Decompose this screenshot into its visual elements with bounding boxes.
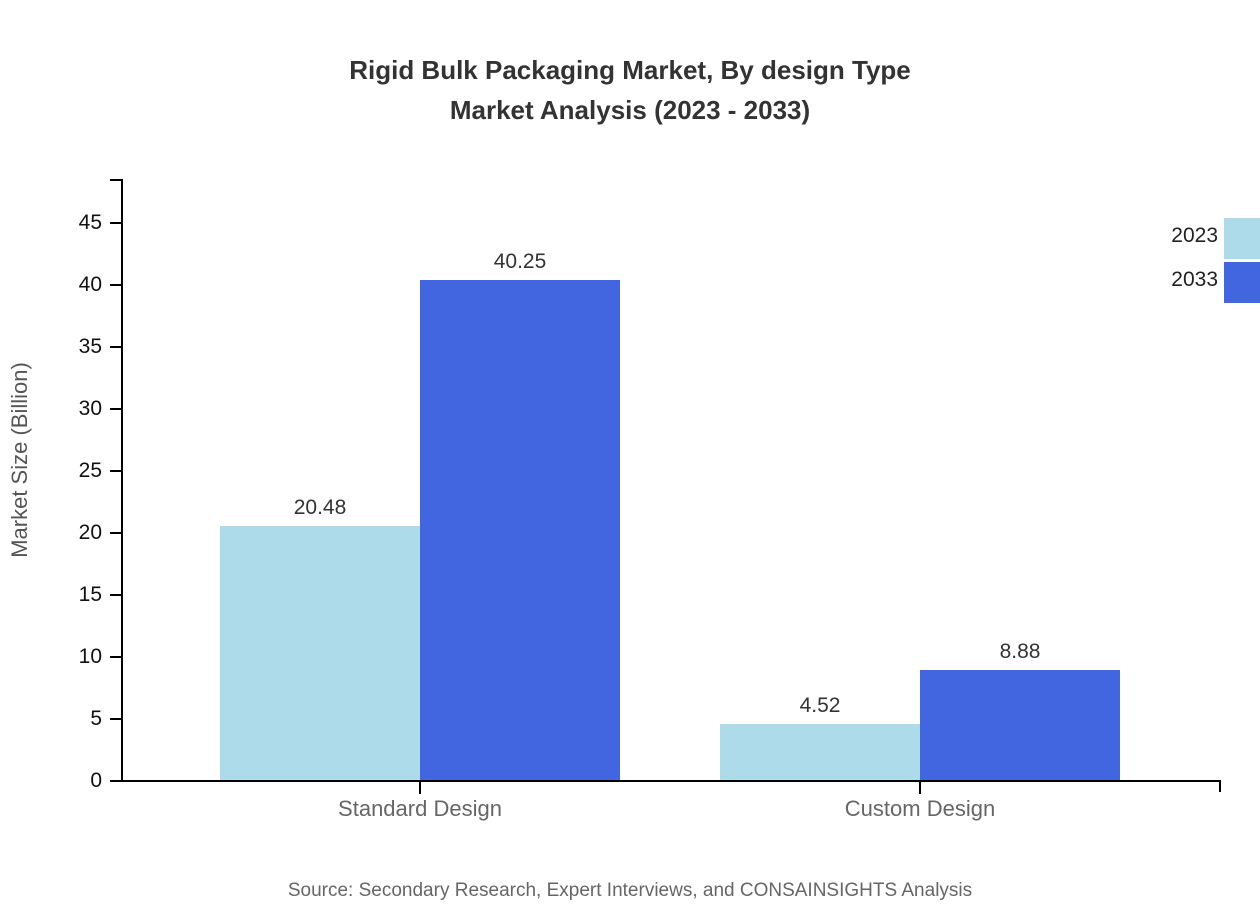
y-tick-mark-5 [110, 718, 121, 720]
y-tick-mark-45 [110, 222, 121, 224]
legend-label-2033: 2033 [1100, 269, 1218, 291]
legend: 2023 2033 [1100, 215, 1260, 310]
bar-standard-design-2023[interactable] [220, 526, 420, 780]
x-tick-mark-standard-design [419, 782, 421, 794]
chart-title: Rigid Bulk Packaging Market, By design T… [0, 50, 1260, 130]
y-tick-mark-40 [110, 284, 121, 286]
y-tick-label-15: 15 [79, 584, 111, 605]
x-tick-label-standard-design: Standard Design [270, 795, 570, 823]
y-tick-label-30: 30 [79, 398, 111, 419]
legend-item-2023[interactable]: 2023 [1100, 216, 1260, 257]
bar-custom-design-2033[interactable] [920, 670, 1120, 780]
legend-swatch-2033 [1224, 262, 1260, 303]
legend-swatch-2023 [1224, 218, 1260, 259]
y-tick-mark-10 [110, 656, 121, 658]
source-note: Source: Secondary Research, Expert Inter… [0, 878, 1260, 904]
bar-value-label-standard-design-2033: 40.25 [420, 251, 620, 272]
y-tick-label-40: 40 [79, 274, 111, 295]
y-axis-top-cap [110, 179, 123, 181]
y-tick-label-35: 35 [79, 336, 111, 357]
bar-value-label-custom-design-2033: 8.88 [920, 641, 1120, 662]
y-tick-mark-20 [110, 532, 121, 534]
chart-title-line-1: Rigid Bulk Packaging Market, By design T… [0, 50, 1260, 90]
x-axis-line [121, 780, 1221, 782]
y-tick-label-25: 25 [79, 460, 111, 481]
y-tick-label-5: 5 [90, 708, 111, 729]
bar-value-label-standard-design-2023: 20.48 [220, 497, 420, 518]
y-axis-line [121, 179, 123, 782]
y-tick-mark-25 [110, 470, 121, 472]
y-axis-title-text: Market Size (Billion) [7, 362, 33, 558]
y-tick-mark-0 [110, 780, 121, 782]
x-tick-mark-custom-design [919, 782, 921, 794]
y-tick-label-0: 0 [90, 770, 111, 791]
y-tick-label-45: 45 [79, 212, 111, 233]
y-tick-label-20: 20 [79, 522, 111, 543]
y-axis-title: Market Size (Billion) [0, 0, 40, 920]
bar-value-label-custom-design-2023: 4.52 [720, 695, 920, 716]
chart-figure: Rigid Bulk Packaging Market, By design T… [0, 0, 1260, 920]
bar-standard-design-2033[interactable] [420, 280, 620, 780]
y-tick-label-10: 10 [79, 646, 111, 667]
y-tick-mark-35 [110, 346, 121, 348]
y-tick-mark-30 [110, 408, 121, 410]
chart-title-line-2: Market Analysis (2023 - 2033) [0, 90, 1260, 130]
legend-label-2023: 2023 [1100, 225, 1218, 247]
x-tick-label-custom-design: Custom Design [770, 795, 1070, 823]
legend-item-2033[interactable]: 2033 [1100, 260, 1260, 301]
y-tick-mark-15 [110, 594, 121, 596]
x-axis-right-cap [1219, 780, 1221, 792]
bar-custom-design-2023[interactable] [720, 724, 920, 780]
